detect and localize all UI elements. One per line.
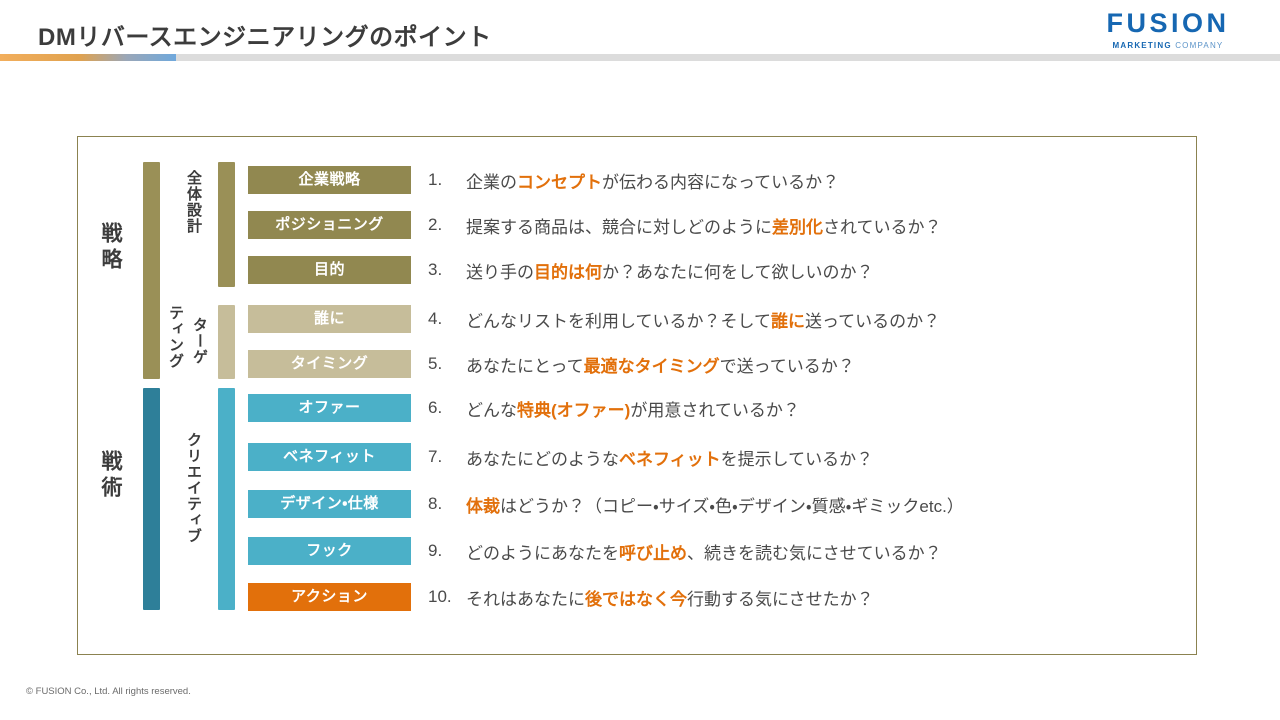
question-text-5: あなたにとって最適なタイミングで送っているか？ (466, 352, 1188, 377)
question-number-5: 5. (428, 354, 466, 374)
question-number-8: 8. (428, 494, 466, 514)
copyright-footer: © FUSION Co., Ltd. All rights reserved. (26, 686, 191, 697)
question-number-2: 2. (428, 215, 466, 235)
item-label-box-5[interactable]: タイミング (248, 350, 411, 378)
question-text-9: どのようにあなたを呼び止め、続きを読む気にさせているか？ (466, 539, 1188, 564)
question-row-10: 10. それはあなたに後ではなく今行動する気にさせたか？ (428, 583, 1188, 611)
group-label-tactics: 戦術 (100, 450, 121, 502)
item-label-box-3[interactable]: 目的 (248, 256, 411, 284)
question-text-7: あなたにどのようなベネフィットを提示しているか？ (466, 445, 1188, 470)
question-row-5: 5. あなたにとって最適なタイミングで送っているか？ (428, 350, 1188, 378)
page-title: DMリバースエンジニアリングのポイント (38, 17, 492, 52)
question-row-6: 6. どんな特典(オファー)が用意されているか？ (428, 394, 1188, 422)
item-label-box-6[interactable]: オファー (248, 394, 411, 422)
subgroup-bar-overall-design (218, 162, 235, 287)
group-bar-tactics (143, 388, 160, 610)
question-text-10: それはあなたに後ではなく今行動する気にさせたか？ (466, 585, 1188, 610)
logo-tagline-company: COMPANY (1175, 41, 1223, 50)
item-label-box-8[interactable]: デザイン・仕様 (248, 490, 411, 518)
question-number-10: 10. (428, 587, 466, 607)
question-text-8: 体裁はどうか？（コピー・サイズ・色・デザイン・質感・ギミックetc.） (466, 492, 1188, 517)
question-text-4: どんなリストを利用しているか？そして誰に送っているのか？ (466, 307, 1188, 332)
logo-tagline: MARKETING COMPANY (1084, 42, 1252, 50)
group-label-strategy: 戦略 (100, 222, 121, 274)
question-number-3: 3. (428, 260, 466, 280)
question-row-1: 1. 企業のコンセプトが伝わる内容になっているか？ (428, 166, 1188, 194)
question-text-3: 送り手の目的は何か？あなたに何をして欲しいのか？ (466, 258, 1188, 283)
logo-wordmark: FUSION (1084, 10, 1252, 37)
question-row-8: 8. 体裁はどうか？（コピー・サイズ・色・デザイン・質感・ギミックetc.） (428, 490, 1188, 518)
question-text-1: 企業のコンセプトが伝わる内容になっているか？ (466, 168, 1188, 193)
subgroup-bar-targeting (218, 305, 235, 379)
question-text-6: どんな特典(オファー)が用意されているか？ (466, 396, 1188, 421)
group-bar-strategy (143, 162, 160, 379)
question-row-2: 2. 提案する商品は、競合に対しどのように差別化されているか？ (428, 211, 1188, 239)
item-label-box-4[interactable]: 誰に (248, 305, 411, 333)
subgroup-bar-creative (218, 388, 235, 610)
item-label-box-2[interactable]: ポジショニング (248, 211, 411, 239)
item-label-box-10[interactable]: アクション (248, 583, 411, 611)
item-label-box-7[interactable]: ベネフィット (248, 443, 411, 471)
question-number-1: 1. (428, 170, 466, 190)
logo-tagline-marketing: MARKETING (1113, 41, 1172, 50)
question-number-7: 7. (428, 447, 466, 467)
subgroup-label-targeting-line1: ティング (168, 305, 183, 369)
fusion-logo: FUSION MARKETING COMPANY (1084, 10, 1252, 50)
header-divider (0, 54, 1280, 61)
question-text-2: 提案する商品は、競合に対しどのように差別化されているか？ (466, 213, 1188, 238)
question-row-9: 9. どのようにあなたを呼び止め、続きを読む気にさせているか？ (428, 537, 1188, 565)
question-row-3: 3. 送り手の目的は何か？あなたに何をして欲しいのか？ (428, 256, 1188, 284)
question-row-4: 4. どんなリストを利用しているか？そして誰に送っているのか？ (428, 305, 1188, 333)
item-label-box-9[interactable]: フック (248, 537, 411, 565)
subgroup-label-overall-design: 全体設計 (186, 170, 201, 234)
question-number-6: 6. (428, 398, 466, 418)
item-label-box-1[interactable]: 企業戦略 (248, 166, 411, 194)
question-number-9: 9. (428, 541, 466, 561)
subgroup-label-creative: クリエイティブ (186, 432, 201, 544)
question-row-7: 7. あなたにどのようなベネフィットを提示しているか？ (428, 443, 1188, 471)
header-accent-bar (0, 54, 176, 61)
subgroup-label-targeting-line2: ターゲ (192, 317, 207, 365)
question-number-4: 4. (428, 309, 466, 329)
